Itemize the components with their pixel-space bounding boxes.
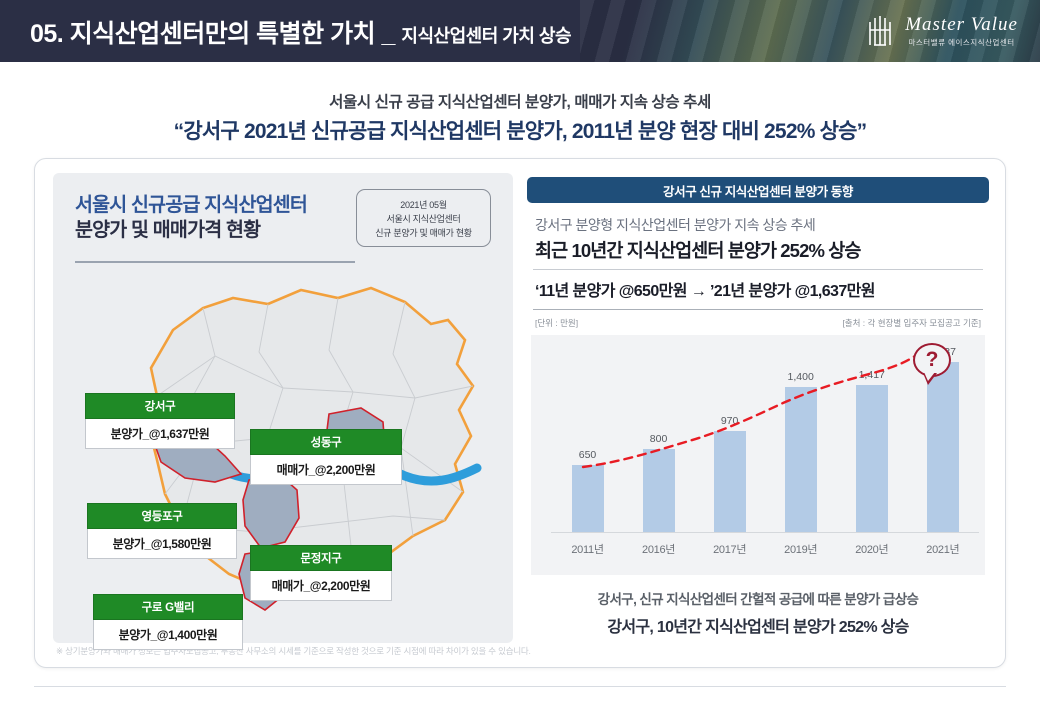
map-label-guro-value: 분양가_@1,400만원 <box>93 620 243 650</box>
chart-divider-bottom <box>533 309 983 310</box>
chart-plot-area: 650 800 970 1,400 1,417 <box>557 345 975 533</box>
left-panel-divider <box>75 261 355 263</box>
x-label: 2016년 <box>628 541 689 557</box>
bar-column: 1,417 <box>841 345 902 533</box>
left-panel-title-line1: 서울시 신규공급 지식산업센터 <box>75 193 307 218</box>
map-label-guro[interactable]: 구로 G밸리 분양가_@1,400만원 <box>93 594 243 650</box>
map-label-munjeong-name: 문정지구 <box>250 545 392 571</box>
map-label-gangseo-value: 분양가_@1,637만원 <box>85 419 235 449</box>
content-card: 서울시 신규공급 지식산업센터 분양가 및 매매가격 현황 2021년 05월 … <box>34 158 1006 668</box>
bar-2019 <box>785 387 817 533</box>
slide-subtitle-line1: 서울시 신규 공급 지식산업센터 분양가, 매매가 지속 상승 추세 <box>0 90 1040 112</box>
map-label-munjeong[interactable]: 문정지구 매매가_@2,200만원 <box>250 545 392 601</box>
chart-section-header: 강서구 신규 지식산업센터 분양가 동향 <box>527 177 989 203</box>
bar-column: 650 <box>557 345 618 533</box>
bar-column: 1,400 <box>770 345 831 533</box>
x-label: 2011년 <box>557 541 618 557</box>
conclusion-line2: 강서구, 10년간 지식산업센터 분양가 252% 상승 <box>527 613 989 637</box>
date-info-line3: 신규 분양가 및 매매가 현황 <box>375 226 472 239</box>
chart-axis-line <box>551 532 979 533</box>
price-trend-bar-chart: 650 800 970 1,400 1,417 <box>531 335 985 575</box>
bar-value-label: 1,400 <box>788 371 814 383</box>
map-label-guro-name: 구로 G밸리 <box>93 594 243 620</box>
x-label: 2020년 <box>841 541 902 557</box>
map-label-munjeong-value: 매매가_@2,200만원 <box>250 571 392 601</box>
x-label: 2021년 <box>912 541 973 557</box>
map-label-yeongdeungpo-name: 영등포구 <box>87 503 237 529</box>
chart-source-note: [출처 : 각 현장별 입주자 모집공고 기준] <box>842 317 981 329</box>
map-label-seongdong-value: 매매가_@2,200만원 <box>250 455 402 485</box>
header-main-title: 지식산업센터만의 특별한 가치 _ <box>70 20 395 48</box>
chart-price-comparison: ‘11년 분양가 @650만원 → ’21년 분양가 @1,637만원 <box>535 277 875 301</box>
page-header: 05. 지식산업센터만의 특별한 가치 _ 지식산업센터 가치 상승 Maste… <box>0 0 1040 62</box>
date-info-line2: 서울시 지식산업센터 <box>386 212 460 225</box>
map-label-gangseo-name: 강서구 <box>85 393 235 419</box>
x-label: 2017년 <box>699 541 760 557</box>
bar-column: 970 <box>699 345 760 533</box>
bar-2021 <box>927 362 959 533</box>
slide-subtitle-line2: “강서구 2021년 신규공급 지식산업센터 분양가, 2011년 분양 현장 … <box>0 115 1040 145</box>
right-panel: 강서구 신규 지식산업센터 분양가 동향 강서구 분양형 지식산업센터 분양가 … <box>527 173 989 643</box>
left-panel-title-line2: 분양가 및 매매가격 현황 <box>75 218 307 243</box>
map-label-gangseo[interactable]: 강서구 분양가_@1,637만원 <box>85 393 235 449</box>
chart-divider-top <box>533 269 983 270</box>
bar-2016 <box>643 449 675 533</box>
bottom-divider <box>34 686 1006 687</box>
header-sub-title: 지식산업센터 가치 상승 <box>401 26 571 46</box>
logo-name: Master Value <box>905 15 1018 34</box>
bar-value-label: 1,417 <box>859 369 885 381</box>
logo-text-block: Master Value 마스터밸류 에이스지식산업센터 <box>905 15 1018 48</box>
map-label-yeongdeungpo-value: 분양가_@1,580만원 <box>87 529 237 559</box>
brand-logo: Master Value 마스터밸류 에이스지식산업센터 <box>865 10 1018 52</box>
bar-2020 <box>856 385 888 533</box>
bar-2011 <box>572 465 604 533</box>
page-title: 05. 지식산업센터만의 특별한 가치 _ 지식산업센터 가치 상승 <box>30 14 571 50</box>
x-label: 2019년 <box>770 541 831 557</box>
bar-2017 <box>714 431 746 533</box>
chart-x-axis-labels: 2011년 2016년 2017년 2019년 2020년 2021년 <box>557 541 975 563</box>
chart-subtitle: 강서구 분양형 지식산업센터 분양가 지속 상승 추세 <box>535 215 815 235</box>
section-number: 05. <box>30 20 63 48</box>
conclusion-line1: 강서구, 신규 지식산업센터 간헐적 공급에 따른 분양가 급상승 <box>527 588 989 608</box>
question-mark-bubble: ? <box>913 343 951 377</box>
bar-value-label: 970 <box>721 415 739 427</box>
logo-korean-subtitle: 마스터밸류 에이스지식산업센터 <box>909 37 1015 48</box>
bar-column: 800 <box>628 345 689 533</box>
map-label-seongdong[interactable]: 성동구 매매가_@2,200만원 <box>250 429 402 485</box>
date-info-box: 2021년 05월 서울시 지식산업센터 신규 분양가 및 매매가 현황 <box>356 189 491 247</box>
chart-headline: 최근 10년간 지식산업센터 분양가 252% 상승 <box>535 237 861 263</box>
date-info-line1: 2021년 05월 <box>400 198 446 211</box>
bar-value-label: 800 <box>650 433 668 445</box>
map-label-yeongdeungpo[interactable]: 영등포구 분양가_@1,580만원 <box>87 503 237 559</box>
bar-value-label: 650 <box>579 449 597 461</box>
map-label-seongdong-name: 성동구 <box>250 429 402 455</box>
left-panel-title: 서울시 신규공급 지식산업센터 분양가 및 매매가격 현황 <box>75 193 307 243</box>
logo-monogram-icon <box>865 13 895 49</box>
chart-unit-note: [단위 : 만원] <box>535 317 578 329</box>
left-panel: 서울시 신규공급 지식산업센터 분양가 및 매매가격 현황 2021년 05월 … <box>53 173 513 643</box>
